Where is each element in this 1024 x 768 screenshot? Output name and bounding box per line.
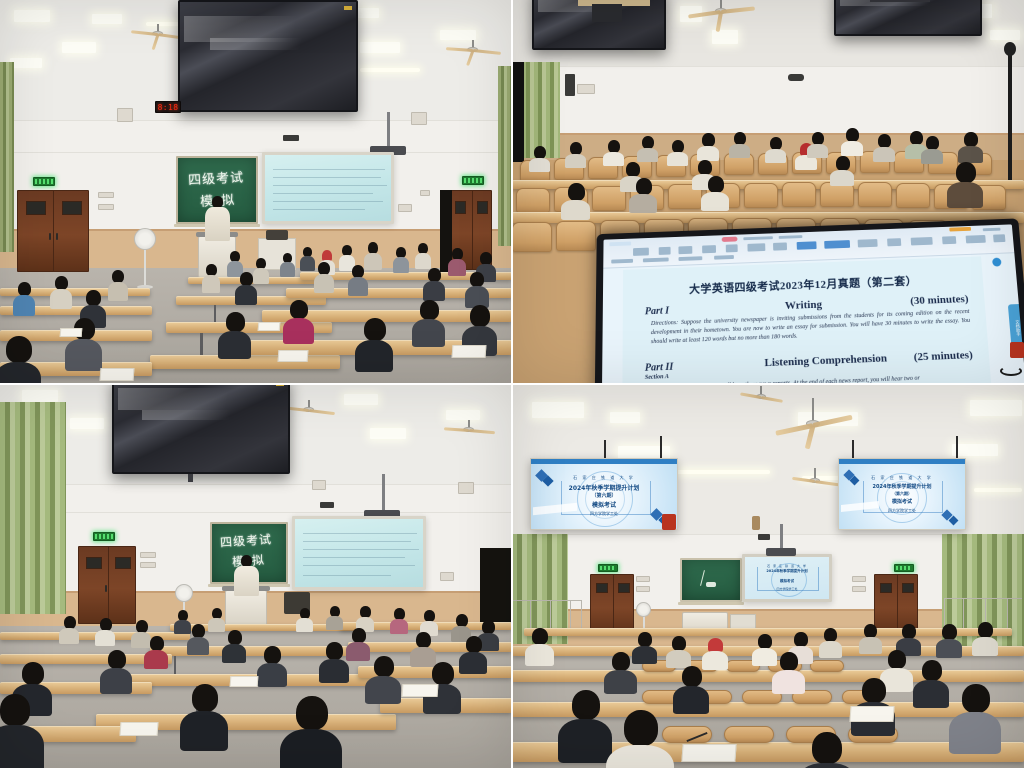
slide-title-3: 模拟考试 [745, 579, 829, 584]
panel-top-left: 8:18 四级考试 模 拟 [0, 0, 512, 384]
part-1-name: Writing [785, 299, 822, 312]
slide-org: 石 家 庄 铁 道 大 学 [839, 475, 965, 481]
entrance-door[interactable] [78, 546, 136, 624]
part-1-label: Part I [645, 305, 669, 317]
entrance-door[interactable] [590, 574, 634, 636]
panel-bottom-right: 石 家 庄 铁 道 大 学 2024年秋季学期提升计划 （第六期） 模拟考试 四… [512, 384, 1024, 768]
part-2-name: Listening Comprehension [764, 352, 887, 369]
cloud-status-icon[interactable] [992, 258, 1002, 267]
panel-top-right: 大学英语四级考试2023年12月真题（第二套） Part I Writing (… [512, 0, 1024, 384]
front-projection-screen [262, 152, 394, 224]
panel-bottom-left: 四级考试 模 拟 [0, 384, 512, 768]
photo-collage: 8:18 四级考试 模 拟 [0, 0, 1024, 768]
slide-title-2: （第六期） [839, 491, 965, 497]
part-2-duration: (25 minutes) [913, 349, 973, 363]
slide-title-1: 2024年秋季学期提升计划 [839, 483, 965, 490]
green-curtain [498, 66, 512, 246]
part-1-directions: Directions: Suppose the university newsp… [651, 308, 971, 347]
projection-screen-left: 石 家 庄 铁 道 大 学 2024年秋季学期提升计划 （第六期） 模拟考试 四… [530, 458, 678, 530]
projection-screen-right: 石 家 庄 铁 道 大 学 2024年秋季学期提升计划 （第六期） 模拟考试 四… [838, 458, 966, 530]
part-2-subsection: Section A [645, 374, 669, 381]
exit-sign [93, 532, 115, 541]
green-curtain [0, 402, 66, 614]
part-2-label: Part II [645, 362, 674, 374]
touchscreen-monitor[interactable]: 大学英语四级考试2023年12月真题（第二套） Part I Writing (… [595, 218, 1024, 384]
led-clock: 8:18 [155, 101, 181, 113]
front-projection-screen: 石 家 庄 铁 道 大 学 2024年秋季学期提升计划 模拟考试 四方学院学工处 [742, 554, 832, 602]
led-clock-value: 8:18 [158, 103, 179, 112]
entrance-door[interactable] [17, 190, 89, 272]
collage-divider-horizontal [0, 383, 1024, 385]
green-curtain [522, 62, 560, 158]
monitor-screen[interactable]: 大学英语四级考试2023年12月真题（第二套） Part I Writing (… [602, 224, 1024, 384]
front-projection-screen [292, 516, 426, 590]
slide-title-1: 2024年秋季学期提升计划 [745, 569, 829, 574]
microphone-stand [1008, 52, 1012, 182]
instructor [232, 555, 260, 593]
green-curtain [0, 62, 14, 252]
chalkboard [680, 558, 742, 602]
chalk-line-1: 四级考试 [219, 530, 272, 551]
slide-org: 石 家 庄 铁 道 大 学 [531, 475, 677, 481]
exit-sign [894, 564, 914, 572]
slide-title-2: （第六期） [531, 492, 677, 499]
overhead-display [112, 384, 290, 474]
projector [766, 548, 796, 556]
slide-org: 石 家 庄 铁 道 大 学 [745, 564, 829, 568]
exit-sign [462, 176, 484, 185]
overhead-display [532, 0, 666, 50]
overhead-display [834, 0, 982, 36]
slide-title-1: 2024年秋季学期提升计划 [531, 483, 677, 492]
exit-sign [598, 564, 618, 572]
slide-footer: 四方学院学工处 [745, 587, 829, 591]
part-1-duration: (30 minutes) [910, 293, 969, 307]
instructor [203, 196, 231, 240]
chalk-line-1: 四级考试 [188, 167, 245, 189]
overhead-display [178, 0, 358, 112]
exit-sign [33, 177, 55, 186]
